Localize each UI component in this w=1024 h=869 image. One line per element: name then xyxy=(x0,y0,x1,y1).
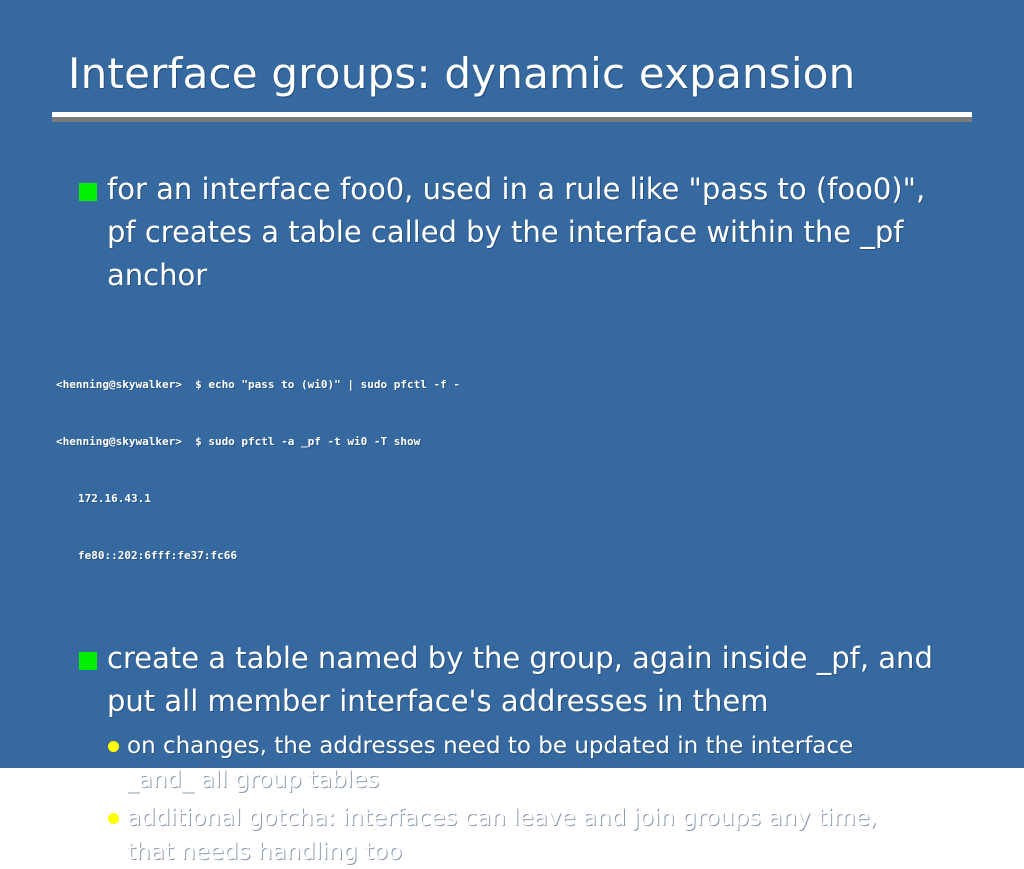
square-bullet-icon xyxy=(79,652,97,670)
sub-bullet-item-2: additional gotcha: interfaces can leave … xyxy=(0,801,1024,869)
slide-canvas: Interface groups: dynamic expansion for … xyxy=(0,0,1024,768)
square-bullet-icon xyxy=(79,183,97,201)
sub-bullet-list: on changes, the addresses need to be upd… xyxy=(0,729,1024,869)
page-title: Interface groups: dynamic expansion xyxy=(52,48,972,100)
title-rule-shadow xyxy=(52,117,972,122)
slide-header: Interface groups: dynamic expansion xyxy=(52,48,972,100)
terminal-command-line: <henning@skywalker> $ sudo pfctl -a _pf … xyxy=(56,432,1024,451)
slide-body: for an interface foo0, used in a rule li… xyxy=(0,168,1024,869)
sub-bullet-item-1-text: on changes, the addresses need to be upd… xyxy=(127,733,853,793)
terminal-command-line: <henning@skywalker> $ echo "pass to (wi0… xyxy=(56,375,1024,394)
sub-bullet-item-2-text: additional gotcha: interfaces can leave … xyxy=(127,805,877,865)
sub-bullet-item-1: on changes, the addresses need to be upd… xyxy=(0,729,1024,797)
bullet-item-1-text: for an interface foo0, used in a rule li… xyxy=(107,172,925,292)
bullet-item-1: for an interface foo0, used in a rule li… xyxy=(0,168,1024,297)
disc-bullet-icon xyxy=(108,741,119,752)
terminal-output-line: fe80::202:6fff:fe37:fc66 xyxy=(56,546,1024,565)
disc-bullet-icon xyxy=(108,813,119,824)
bullet-item-2: create a table named by the group, again… xyxy=(0,637,1024,723)
terminal-transcript: <henning@skywalker> $ echo "pass to (wi0… xyxy=(0,337,1024,603)
bullet-item-2-text: create a table named by the group, again… xyxy=(107,641,933,718)
terminal-output-line: 172.16.43.1 xyxy=(56,489,1024,508)
